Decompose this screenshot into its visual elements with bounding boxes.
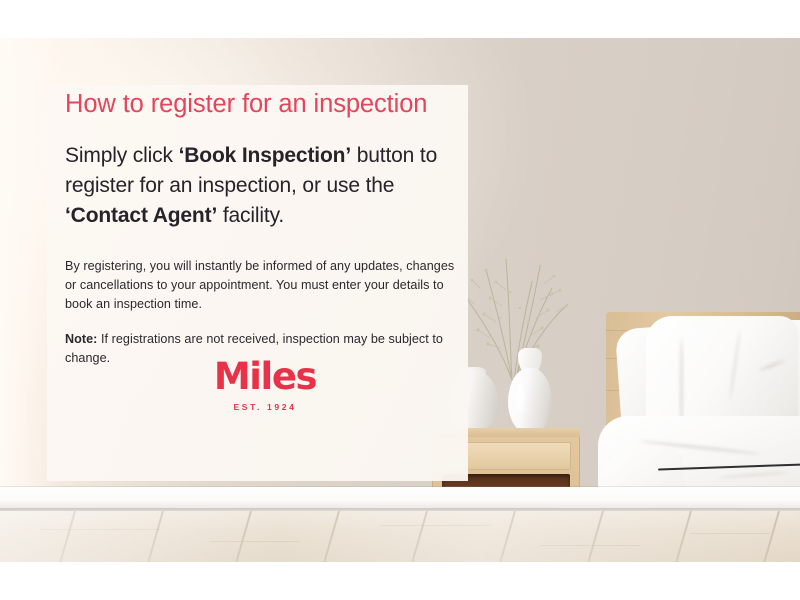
- brand-logo: Miles EST. 1924: [65, 358, 465, 412]
- overlay-content: How to register for an inspection Simply…: [65, 90, 465, 368]
- screenshot-frame: How to register for an inspection Simply…: [0, 0, 800, 600]
- body-paragraph: By registering, you will instantly be in…: [65, 257, 465, 314]
- logo-wordmark: Miles: [65, 358, 465, 395]
- subheading-part3: facility.: [217, 204, 284, 227]
- page-title: How to register for an inspection: [65, 90, 465, 119]
- vase-right: [508, 368, 552, 433]
- book-inspection-term: ‘Book Inspection’: [179, 144, 351, 167]
- floor: [0, 511, 800, 562]
- contact-agent-term: ‘Contact Agent’: [65, 204, 217, 227]
- subheading-part1: Simply click: [65, 144, 179, 167]
- logo-established: EST. 1924: [65, 402, 465, 412]
- note-label: Note:: [65, 332, 97, 346]
- subheading: Simply click ‘Book Inspection’ button to…: [65, 141, 465, 230]
